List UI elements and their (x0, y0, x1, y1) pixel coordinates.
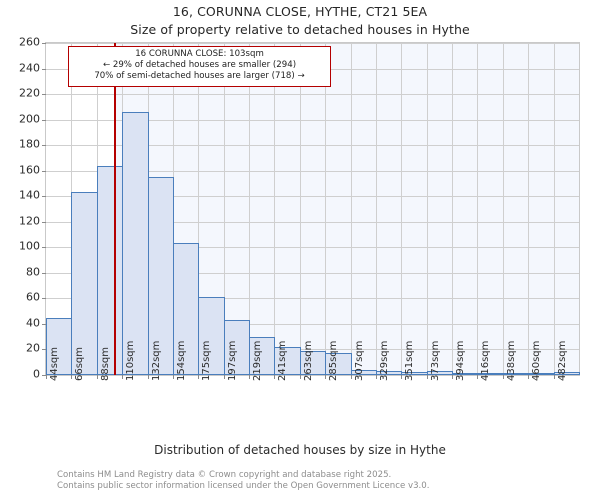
x-axis-tick (427, 375, 428, 379)
x-axis-tick-label: 241sqm (277, 341, 288, 381)
x-axis-tick (224, 375, 225, 379)
y-axis-tick (42, 120, 46, 121)
x-axis-tick (148, 375, 149, 379)
x-axis-tick (477, 375, 478, 379)
gridline-horizontal (46, 43, 579, 44)
gridline-vertical (274, 43, 275, 375)
gridline-vertical (452, 43, 453, 375)
footer-line-1: Contains HM Land Registry data © Crown c… (57, 470, 597, 481)
y-axis-tick (42, 247, 46, 248)
x-axis-tick (351, 375, 352, 379)
plot-area (45, 42, 580, 376)
x-axis-tick (97, 375, 98, 379)
y-axis-tick (42, 273, 46, 274)
x-axis-tick (122, 375, 123, 379)
x-axis-tick-label: 329sqm (379, 341, 390, 381)
y-axis-tick-label: 180 (0, 138, 40, 151)
x-axis-tick (173, 375, 174, 379)
y-axis-tick (42, 222, 46, 223)
x-axis-tick-label: 416sqm (480, 341, 491, 381)
y-axis-tick (42, 298, 46, 299)
x-axis-tick-label: 154sqm (176, 341, 187, 381)
x-axis-tick-label: 438sqm (506, 341, 517, 381)
x-axis-tick (71, 375, 72, 379)
y-axis-tick (42, 196, 46, 197)
bar-88sqm (97, 166, 123, 375)
property-marker-line (114, 43, 116, 375)
x-axis-tick (401, 375, 402, 379)
x-axis-tick (376, 375, 377, 379)
gridline-vertical (503, 43, 504, 375)
x-axis-tick-label: 66sqm (74, 347, 85, 381)
y-axis-tick (42, 94, 46, 95)
attribution-footer: Contains HM Land Registry data © Crown c… (57, 470, 597, 491)
y-axis-tick-label: 140 (0, 189, 40, 202)
x-axis-tick (503, 375, 504, 379)
x-axis-tick-label: 373sqm (430, 341, 441, 381)
y-axis-tick-label: 240 (0, 61, 40, 74)
y-axis-tick-label: 160 (0, 163, 40, 176)
x-axis-tick-label: 394sqm (455, 341, 466, 381)
property-annotation-box: 16 CORUNNA CLOSE: 103sqm ← 29% of detach… (68, 46, 331, 87)
y-axis-tick-label: 220 (0, 87, 40, 100)
x-axis-tick-label: 307sqm (354, 341, 365, 381)
y-axis-tick-label: 80 (0, 265, 40, 278)
x-axis-tick (554, 375, 555, 379)
x-axis-tick-label: 285sqm (328, 341, 339, 381)
y-axis-tick (42, 43, 46, 44)
x-axis-tick (528, 375, 529, 379)
x-axis-tick (46, 375, 47, 379)
x-axis-tick-label: 460sqm (531, 341, 542, 381)
gridline-vertical (300, 43, 301, 375)
gridline-vertical (401, 43, 402, 375)
y-axis-tick-label: 0 (0, 368, 40, 381)
x-axis-tick-label: 351sqm (404, 341, 415, 381)
annotation-line-2: ← 29% of detached houses are smaller (29… (72, 60, 327, 71)
x-axis-tick (452, 375, 453, 379)
y-axis-tick (42, 171, 46, 172)
annotation-line-1: 16 CORUNNA CLOSE: 103sqm (72, 49, 327, 60)
gridline-vertical (427, 43, 428, 375)
y-axis-tick-label: 120 (0, 214, 40, 227)
bar-110sqm (122, 112, 148, 375)
x-axis-tick-label: 132sqm (151, 341, 162, 381)
y-axis-tick (42, 145, 46, 146)
x-axis-tick (300, 375, 301, 379)
x-axis-tick-label: 219sqm (252, 341, 263, 381)
gridline-vertical (325, 43, 326, 375)
gridline-vertical (554, 43, 555, 375)
gridline-horizontal (46, 94, 579, 95)
y-axis-tick-label: 60 (0, 291, 40, 304)
x-axis-tick (274, 375, 275, 379)
footer-line-2: Contains public sector information licen… (57, 481, 597, 492)
y-axis-tick-label: 260 (0, 36, 40, 49)
x-axis-tick-label: 482sqm (557, 341, 568, 381)
y-axis-tick-label: 40 (0, 316, 40, 329)
page-title: 16, CORUNNA CLOSE, HYTHE, CT21 5EA (0, 4, 600, 19)
annotation-line-3: 70% of semi-detached houses are larger (… (72, 71, 327, 82)
y-axis-tick-label: 200 (0, 112, 40, 125)
y-axis-tick-label: 20 (0, 342, 40, 355)
y-axis-tick (42, 69, 46, 70)
x-axis-tick (198, 375, 199, 379)
x-axis-tick (325, 375, 326, 379)
x-axis-tick-label: 175sqm (201, 341, 212, 381)
x-axis-tick-label: 263sqm (303, 341, 314, 381)
x-axis-tick-label: 88sqm (100, 347, 111, 381)
gridline-vertical (376, 43, 377, 375)
gridline-vertical (477, 43, 478, 375)
gridline-vertical (351, 43, 352, 375)
chart-figure: 16, CORUNNA CLOSE, HYTHE, CT21 5EA Size … (0, 0, 600, 500)
x-axis-tick-label: 197sqm (227, 341, 238, 381)
chart-subtitle: Size of property relative to detached ho… (0, 22, 600, 37)
x-axis-tick (249, 375, 250, 379)
x-axis-tick-label: 110sqm (125, 341, 136, 381)
y-axis-tick-label: 100 (0, 240, 40, 253)
x-axis-tick-label: 44sqm (49, 347, 60, 381)
x-axis-title: Distribution of detached houses by size … (0, 443, 600, 457)
gridline-vertical (528, 43, 529, 375)
